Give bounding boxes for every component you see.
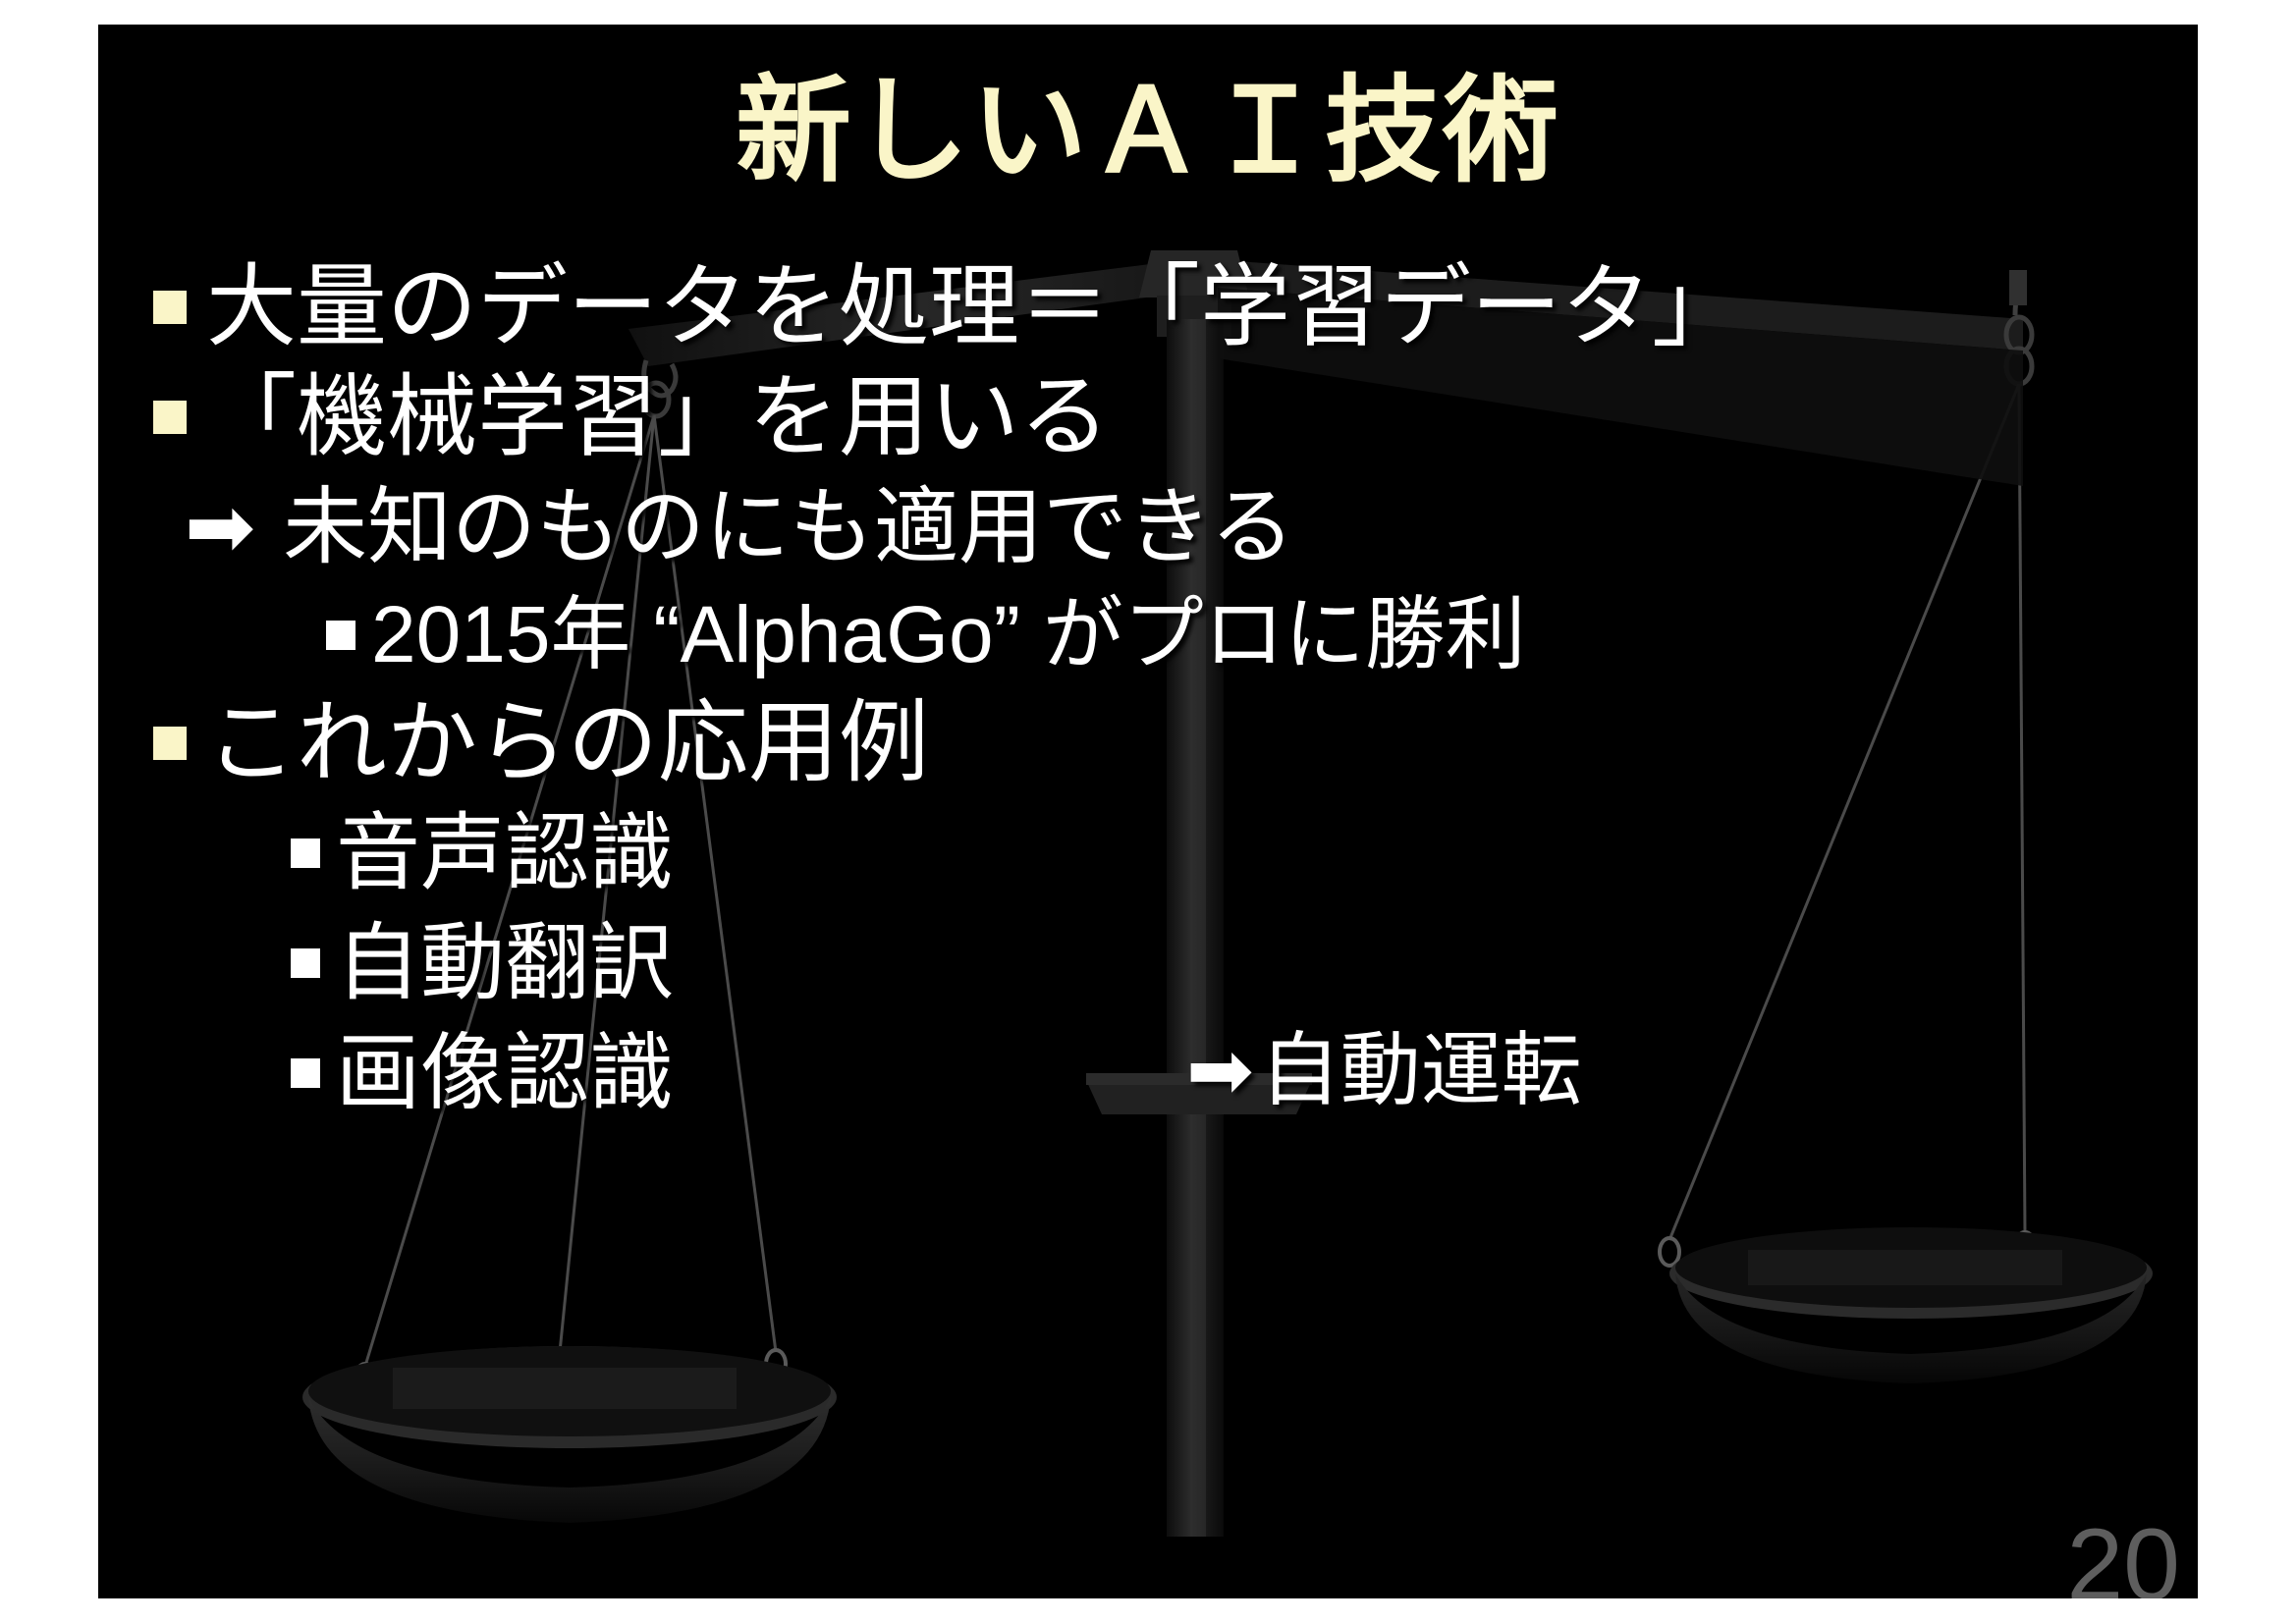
trailing-arrow-item: ➡ 自動運転: [1186, 1018, 1582, 1124]
slide-canvas: 新しいＡＩ技術 大量のデータを処理＝「学習データ」 「機械学習」を用いる ➡ 未…: [98, 25, 2198, 1598]
bullet-label: 自動翻訳: [336, 921, 674, 1005]
bullet-square-icon: [291, 1058, 320, 1088]
bullet-item: これからの応用例: [145, 688, 2168, 798]
bullet-label: 大量のデータを処理＝「学習データ」: [206, 262, 1742, 352]
bullet-item: 画像認識 ➡ 自動運転: [145, 1018, 2168, 1128]
bullet-item: 自動翻訳: [145, 908, 2168, 1018]
bullet-square-icon: [326, 621, 355, 650]
bullet-square-icon: [291, 948, 320, 978]
bullet-label: 2015年 “AlphaGo” がプロに勝利: [371, 595, 1526, 676]
bullet-square-icon: [291, 839, 320, 868]
right-arrow-icon: ➡: [1186, 1031, 1254, 1111]
bullet-square-icon: [153, 291, 187, 324]
bullet-label: 音声認識: [336, 811, 674, 895]
bullet-square-icon: [153, 727, 187, 760]
slide-body: 大量のデータを処理＝「学習データ」 「機械学習」を用いる ➡ 未知のものにも適用…: [145, 252, 2168, 1128]
bullet-item: 音声認識: [145, 798, 2168, 908]
bullet-label: 未知のものにも適用できる: [283, 485, 1294, 569]
page-number: 20: [2066, 1514, 2180, 1598]
bullet-item: 「機械学習」を用いる: [145, 362, 2168, 472]
trailing-arrow-label: 自動運転: [1260, 1031, 1582, 1111]
bullet-label: 画像認識: [336, 1031, 674, 1115]
bullet-item: 2015年 “AlphaGo” がプロに勝利: [145, 582, 2168, 688]
bullet-square-icon: [153, 401, 187, 434]
bullet-label: これからの応用例: [206, 698, 929, 788]
bullet-label: 「機械学習」を用いる: [206, 372, 1110, 462]
bullet-item: 大量のデータを処理＝「学習データ」: [145, 252, 2168, 362]
bullet-item: ➡ 未知のものにも適用できる: [145, 472, 2168, 582]
right-arrow-icon: ➡: [185, 485, 255, 569]
slide-title: 新しいＡＩ技術: [98, 72, 2198, 193]
